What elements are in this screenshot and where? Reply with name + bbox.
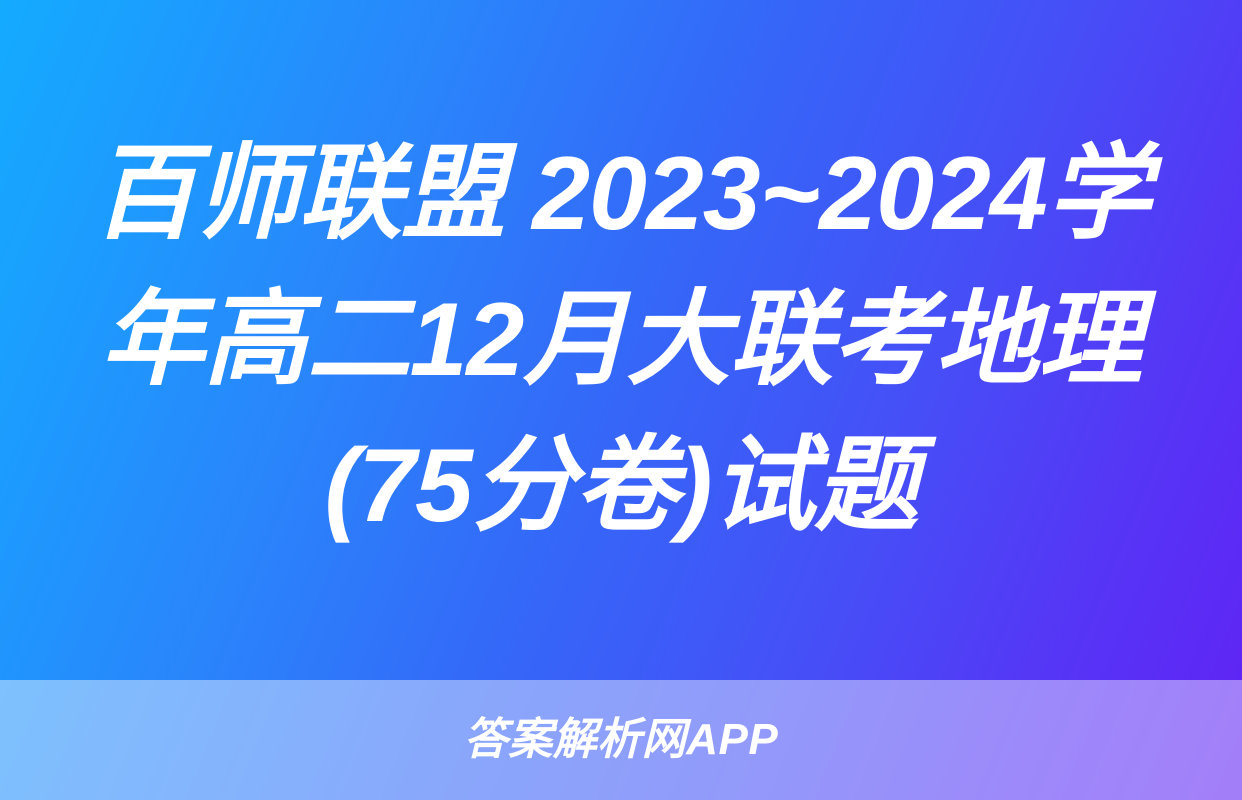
promo-card: 百师联盟 2023~2024学年高二12月大联考地理(75分卷)试题 答案解析网… <box>0 0 1242 800</box>
page-title: 百师联盟 2023~2024学年高二12月大联考地理(75分卷)试题 <box>76 121 1166 559</box>
footer-band: 答案解析网APP <box>0 680 1242 800</box>
app-name-watermark: 答案解析网APP <box>464 712 778 768</box>
title-area: 百师联盟 2023~2024学年高二12月大联考地理(75分卷)试题 <box>0 0 1242 680</box>
